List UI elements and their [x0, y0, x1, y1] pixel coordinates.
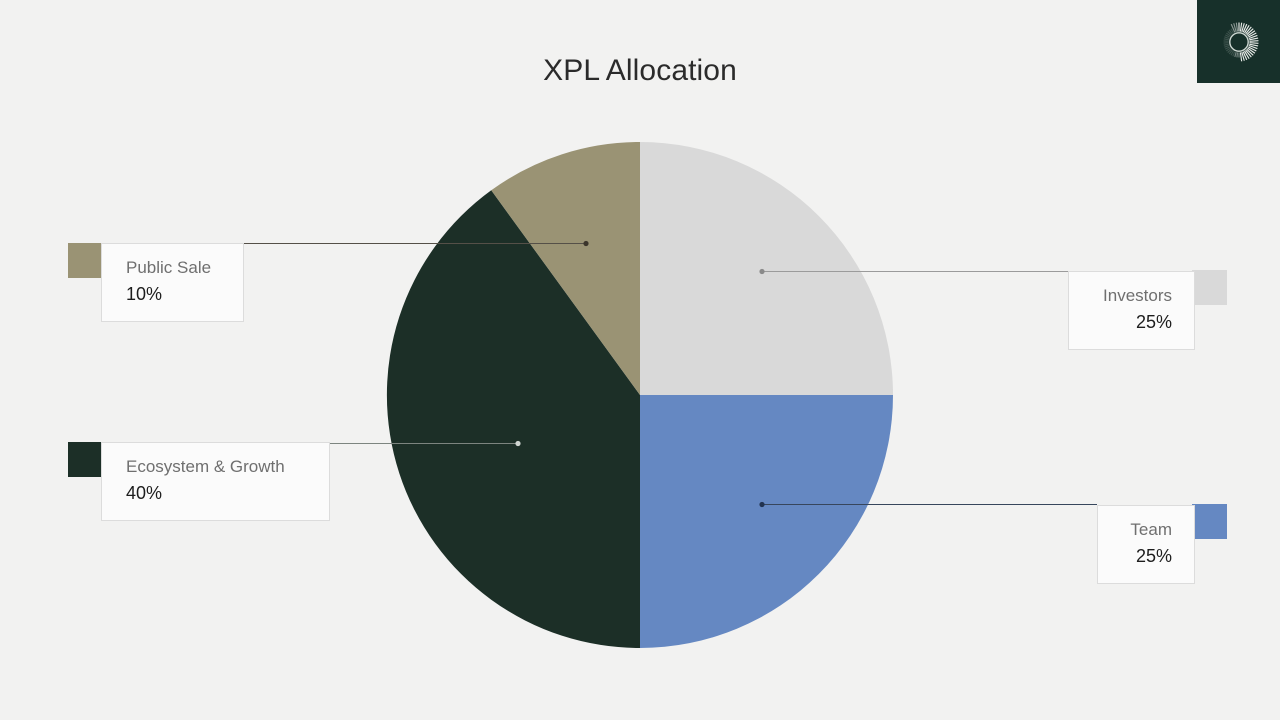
legend-swatch-investors — [1192, 270, 1227, 305]
leader-dot-ecosystem — [515, 441, 520, 446]
callout-label: Public Sale — [126, 256, 221, 281]
callout-value: 10% — [126, 281, 221, 307]
pie-slice-investors[interactable] — [640, 142, 893, 395]
callout-value: 40% — [126, 480, 307, 506]
callout-value: 25% — [1093, 309, 1172, 335]
slide-canvas: XPL Allocation Public Sale 10% — [0, 0, 1280, 720]
leader-dot-investors — [759, 269, 764, 274]
legend-swatch-public-sale — [68, 243, 103, 278]
callout-ecosystem-growth[interactable]: Ecosystem & Growth 40% — [101, 442, 330, 521]
callout-label: Team — [1122, 518, 1172, 543]
leader-dot-public-sale — [583, 241, 588, 246]
callout-label: Investors — [1093, 284, 1172, 309]
legend-swatch-team — [1192, 504, 1227, 539]
sunburst-logo-icon — [1214, 17, 1264, 67]
pie-chart — [0, 0, 1280, 720]
brand-logo-badge[interactable] — [1197, 0, 1280, 83]
callout-investors[interactable]: Investors 25% — [1068, 271, 1195, 350]
callout-label: Ecosystem & Growth — [126, 455, 307, 480]
callout-value: 25% — [1122, 543, 1172, 569]
leader-dot-team — [759, 502, 764, 507]
callout-team[interactable]: Team 25% — [1097, 505, 1195, 584]
pie-slice-team[interactable] — [640, 395, 893, 648]
pie-slices — [387, 142, 893, 648]
callout-public-sale[interactable]: Public Sale 10% — [101, 243, 244, 322]
legend-swatch-ecosystem-growth — [68, 442, 103, 477]
